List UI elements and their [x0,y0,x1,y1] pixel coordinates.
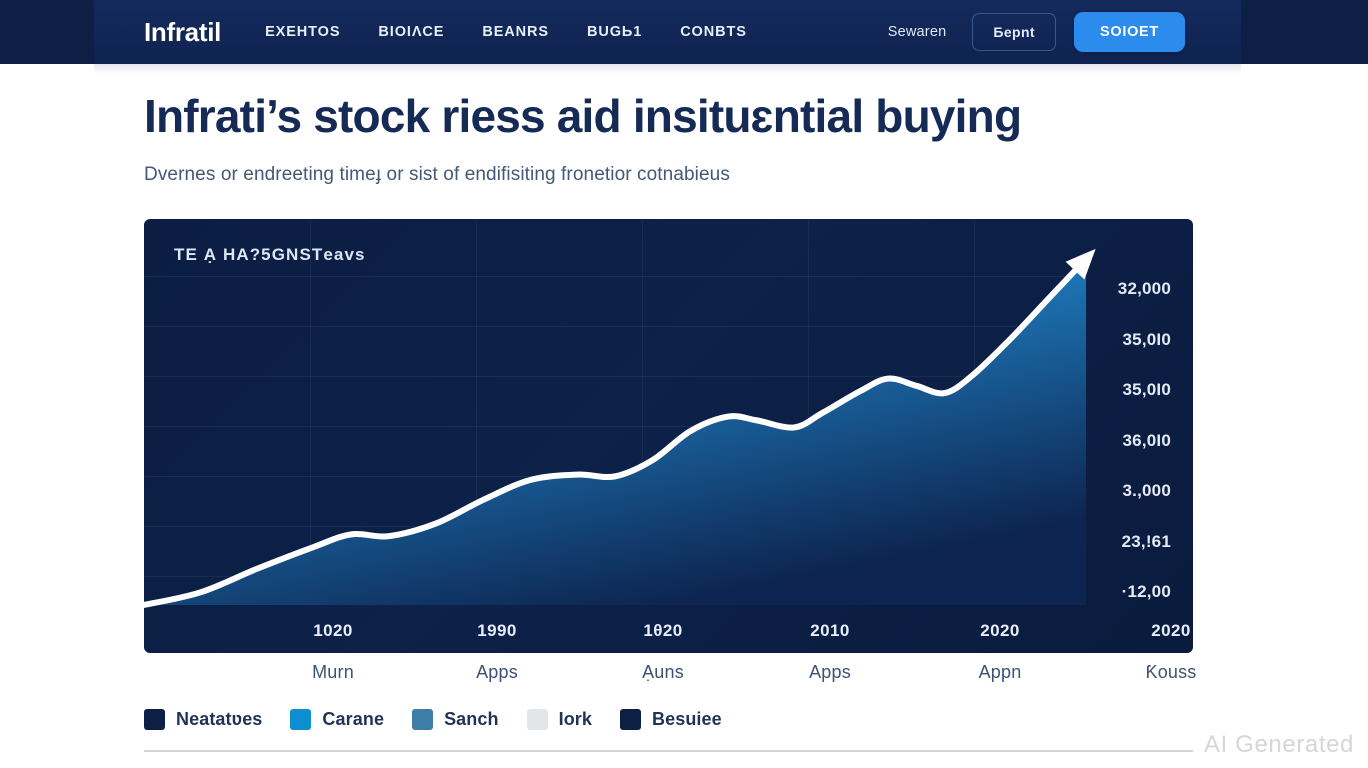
chart-panel: TE Ạ HA?5GNSTеаvs 32,00035,0I035,0I036,0… [144,219,1193,653]
legend-item-label: Sanch [444,709,499,730]
search-link[interactable]: Sewaren [888,24,947,40]
legend-swatch-icon [620,709,641,730]
legend-item[interactable]: Besuiee [620,709,722,730]
primary-cta-button[interactable]: SOIOET [1074,12,1185,52]
legend-swatch-icon [144,709,165,730]
legend-item-label: Besuiee [652,709,722,730]
chart-x-axis: 102019901θ20201020202020 [144,605,1193,653]
page-subtitle: Dvernes or endreeting timeɟ or sist of e… [144,164,1144,186]
navbar-inner: Infratil EXEHTOS BIOIΛCE BEANRS BUGЬ1 CO… [94,0,1241,64]
y-axis-tick-label: 23,!61 [1122,532,1171,552]
y-axis-tick-label: 35,0I0 [1123,330,1171,350]
legend-item[interactable]: Neatatʋes [144,709,262,730]
chart-legend: NeatatʋesCaraneSanchƖorkBesuiee [144,709,722,730]
chart-sub-label: Apps [809,662,851,683]
x-axis-tick-label: 1990 [477,621,516,641]
x-axis-tick-label: 2020 [1151,621,1190,641]
brand-logo[interactable]: Infratil [144,17,221,48]
nav-links: EXEHTOS BIOIΛCE BEANRS BUGЬ1 CONBTS [265,24,747,40]
nav-link-5[interactable]: CONBTS [680,24,747,40]
secondary-button[interactable]: Берnt [972,13,1056,51]
chart-title: TE Ạ HA?5GNSTеаvs [174,245,366,265]
y-axis-tick-label: 35,0I0 [1123,380,1171,400]
x-axis-tick-label: 2010 [810,621,849,641]
ai-generated-watermark: AI Generated [1204,731,1354,759]
legend-item-label: Ɩork [559,709,592,730]
x-axis-tick-label: 2020 [980,621,1019,641]
legend-swatch-icon [527,709,548,730]
chart-sub-label: Murn [312,662,354,683]
legend-item-label: Neatatʋes [176,709,262,730]
x-axis-tick-label: 1020 [313,621,352,641]
top-navbar: Infratil EXEHTOS BIOIΛCE BEANRS BUGЬ1 CO… [0,0,1368,64]
chart-y-axis: 32,00035,0I035,0I036,0I03.,00023,!61·12,… [1086,219,1193,653]
legend-item[interactable]: Ɩork [527,709,592,730]
nav-link-3[interactable]: BEANRS [482,24,549,40]
nav-link-1[interactable]: EXEHTOS [265,24,340,40]
nav-link-4[interactable]: BUGЬ1 [587,24,642,40]
chart-sub-label: Ạuns [642,662,684,683]
chart-plot-svg [144,219,1193,653]
section-divider [144,750,1193,752]
legend-item-label: Carane [322,709,384,730]
y-axis-tick-label: 36,0I0 [1123,431,1171,451]
y-axis-tick-label: ·12,00 [1122,582,1171,602]
chart-sub-label: Appn [979,662,1022,683]
chart-sub-label: Ƙouss [1145,662,1196,683]
legend-swatch-icon [412,709,433,730]
legend-item[interactable]: Carane [290,709,384,730]
chart-area-fill [144,259,1086,605]
chart-sub-labels: MurnAppsẠunsAppsAppnƘouss [144,662,1193,696]
main-content: Infrati’s stock riess aid insituɛntial b… [0,64,1368,768]
nav-link-2[interactable]: BIOIΛCE [378,24,444,40]
legend-item[interactable]: Sanch [412,709,499,730]
x-axis-tick-label: 1θ20 [643,621,682,641]
y-axis-tick-label: 32,000 [1118,279,1171,299]
legend-swatch-icon [290,709,311,730]
chart-sub-label: Apps [476,662,518,683]
y-axis-tick-label: 3.,000 [1123,481,1171,501]
navbar-actions: Sewaren Берnt SOIOET [888,12,1185,52]
page-root: Infratil EXEHTOS BIOIΛCE BEANRS BUGЬ1 CO… [0,0,1368,768]
page-title: Infrati’s stock riess aid insituɛntial b… [144,92,1204,140]
